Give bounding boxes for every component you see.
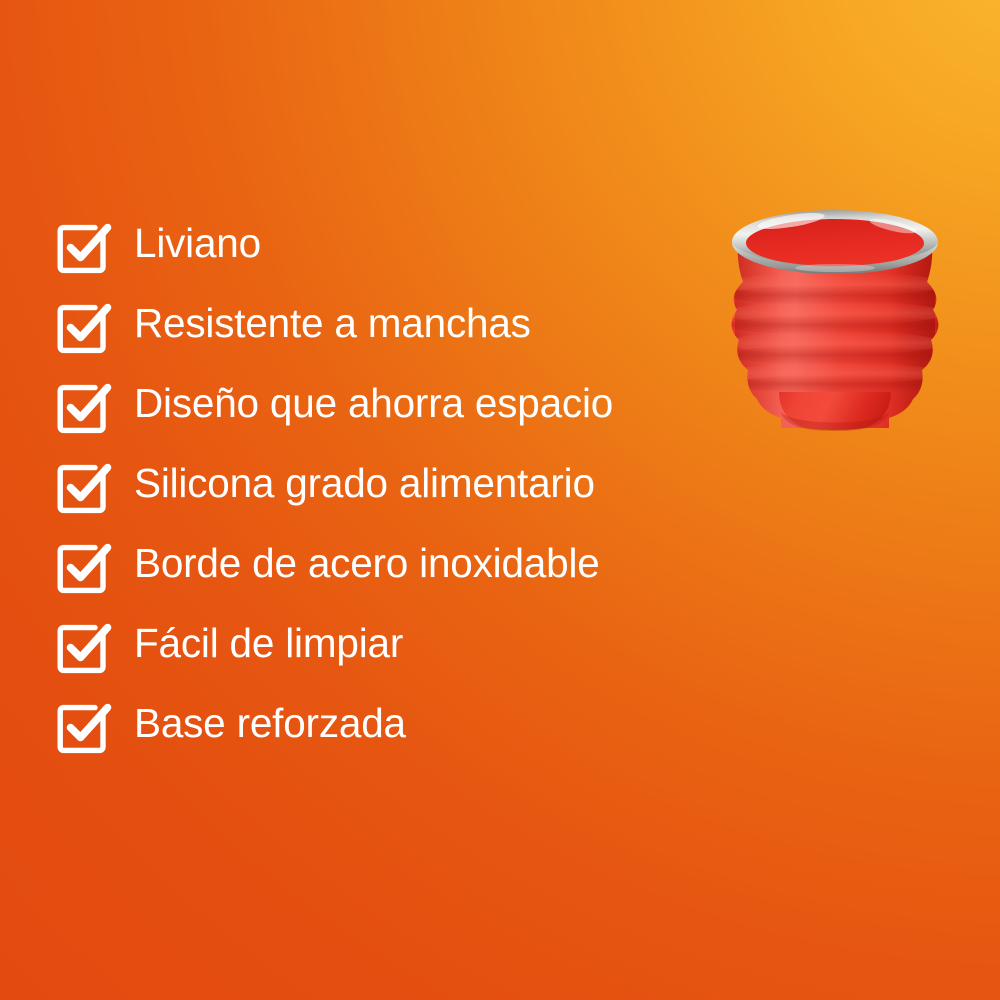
- list-item: Diseño que ahorra espacio: [55, 365, 755, 445]
- list-item: Fácil de limpiar: [55, 605, 755, 685]
- checkbox-checked-icon: [55, 377, 111, 433]
- list-item-label: Silicona grado alimentario: [134, 463, 595, 507]
- list-item-label: Borde de acero inoxidable: [134, 543, 600, 587]
- product-feature-poster: Liviano Resistente a manchas Diseño que …: [0, 0, 1000, 1000]
- checkbox-checked-icon: [55, 617, 111, 673]
- checkbox-checked-icon: [55, 697, 111, 753]
- list-item: Liviano: [55, 205, 755, 285]
- list-item: Borde de acero inoxidable: [55, 525, 755, 605]
- product-image-collapsible-cup: [707, 196, 963, 452]
- checkbox-checked-icon: [55, 297, 111, 353]
- list-item: Resistente a manchas: [55, 285, 755, 365]
- list-item-label: Liviano: [134, 223, 261, 267]
- list-item-label: Resistente a manchas: [134, 303, 531, 347]
- checkbox-checked-icon: [55, 457, 111, 513]
- list-item: Base reforzada: [55, 685, 755, 765]
- list-item-label: Fácil de limpiar: [134, 623, 403, 667]
- list-item-label: Diseño que ahorra espacio: [134, 383, 613, 427]
- checkbox-checked-icon: [55, 537, 111, 593]
- list-item-label: Base reforzada: [134, 703, 406, 747]
- feature-list: Liviano Resistente a manchas Diseño que …: [55, 205, 755, 765]
- list-item: Silicona grado alimentario: [55, 445, 755, 525]
- checkbox-checked-icon: [55, 217, 111, 273]
